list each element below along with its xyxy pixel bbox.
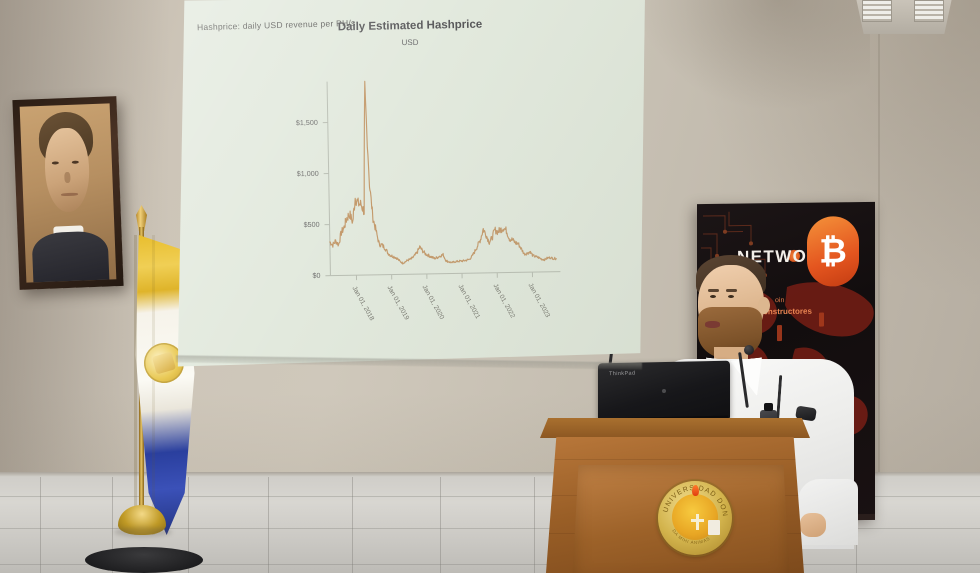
university-seal: UNIVERSIDAD DON BOSCO DA MIHI ANIMAS [658,481,732,555]
chart-title: Daily Estimated Hashprice [175,15,645,36]
laptop-brand-label: ThinkPad [609,371,635,378]
laptop-lid: ThinkPad [598,361,730,422]
projection-screen: Hashprice: daily USD revenue per PH/s Da… [175,0,645,368]
chart-subtitle: USD [175,33,645,51]
y-tick-label: $500 [277,220,319,230]
portrait-image [20,103,117,282]
hashprice-line-chart: $0$500$1,000$1,500 Jan 01, 2018Jan 01, 2… [281,76,563,309]
framed-portrait [12,96,123,290]
y-tick-label: $0 [278,271,320,281]
presentation-photo: NETWORK ₿ oin onstructores emia tcoin nz… [0,0,980,573]
floor-object [85,547,203,573]
air-conditioner-icon [856,0,952,34]
chart-svg [281,76,563,309]
wooden-lectern: UNIVERSIDAD DON BOSCO DA MIHI ANIMAS [540,418,810,573]
ceiling-shadow [640,0,870,108]
laptop[interactable]: ThinkPad [598,361,730,426]
y-tick-label: $1,500 [276,118,318,128]
lectern-panel: UNIVERSIDAD DON BOSCO DA MIHI ANIMAS [572,465,790,573]
y-tick-label: $1,000 [277,169,319,179]
microphone-icon [744,345,754,355]
